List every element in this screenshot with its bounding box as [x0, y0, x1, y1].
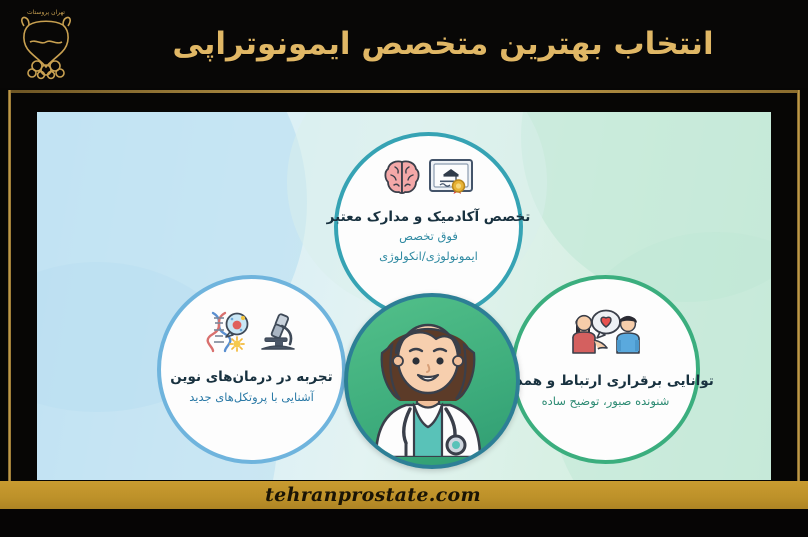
dna-cell-icon	[203, 311, 249, 357]
microscope-icon	[256, 312, 300, 356]
female-doctor-illustration[interactable]	[344, 293, 520, 469]
infographic-canvas: تهران پروستات انتخاب بهترین متخصص ایمونو…	[0, 0, 808, 537]
brain-icon	[383, 158, 421, 200]
page-title: انتخاب بهترین متخصص ایمونوتراپی	[92, 16, 794, 72]
feature-card-empathy[interactable]: توانایی برقراری ارتباط و همدلی شنونده صب…	[511, 275, 700, 464]
frame-line-top	[8, 90, 800, 93]
header-bar: تهران پروستات انتخاب بهترین متخصص ایمونو…	[0, 0, 808, 88]
tehran-prostate-logo: تهران پروستات	[10, 4, 82, 84]
certificate-icon	[428, 158, 474, 200]
frame-line-left	[8, 90, 11, 482]
card-subtitle-line1: فوق تخصص	[399, 228, 458, 245]
feature-card-experience[interactable]: تجربه در درمان‌های نوین آشنایی با پروتکل…	[157, 275, 346, 464]
card-title: تجربه در درمان‌های نوین	[170, 369, 332, 385]
two-people-heart-icon	[558, 309, 654, 363]
content-panel: تخصص آکادمیک و مدارک معتبر فوق تخصص ایمو…	[37, 112, 771, 480]
card-icon-group	[203, 311, 300, 357]
card-icon-group	[558, 309, 654, 363]
card-icon-group	[383, 158, 474, 200]
card-title: تخصص آکادمیک و مدارک معتبر	[327, 209, 531, 225]
footer-bar: tehranprostate.com	[0, 481, 808, 509]
svg-text:تهران پروستات: تهران پروستات	[27, 9, 65, 16]
card-title: توانایی برقراری ارتباط و همدلی	[497, 373, 714, 389]
website-url[interactable]: tehranprostate.com	[265, 484, 481, 506]
card-subtitle-line1: شنونده صبور، توضیح ساده	[542, 393, 670, 410]
card-subtitle-line1: آشنایی با پروتکل‌های جدید	[189, 389, 314, 406]
footer-black-strip	[0, 509, 808, 537]
card-subtitle-line2: ایمونولوژی/انکولوژی	[379, 248, 478, 265]
frame-line-right	[797, 90, 800, 482]
